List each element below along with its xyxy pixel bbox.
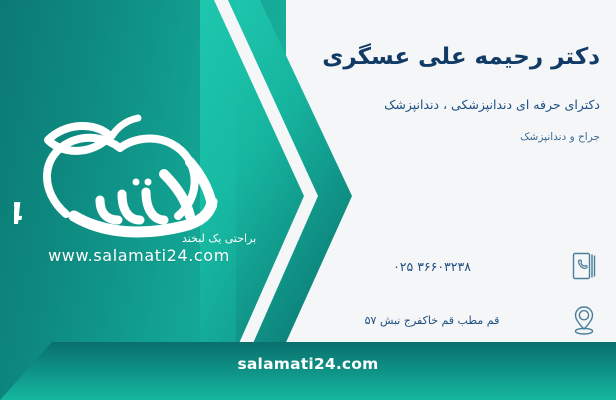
logo-website-url: www.salamati24.com bbox=[14, 246, 264, 265]
footer-website: salamati24.com bbox=[0, 355, 616, 373]
logo-number: 24 bbox=[14, 197, 25, 232]
footer-bar: salamati24.com bbox=[0, 342, 616, 400]
brand-logo: 24 براحتی یک لبخند www.salamati24.com bbox=[14, 96, 264, 282]
logo-tagline-text: براحتی یک لبخند bbox=[182, 232, 256, 245]
contact-address-text: قم مطب قم خاکفرج نبش ۵۷ bbox=[294, 314, 564, 327]
phone-book-icon bbox=[564, 246, 604, 286]
contact-row-address: قم مطب قم خاکفرج نبش ۵۷ bbox=[294, 300, 604, 340]
contact-block: ۳۶۶۰۳۲۳۸ ۰۲۵ قم مطب قم خاکفرج نبش ۵۷ bbox=[294, 246, 604, 354]
doctor-specialty: دکترای حرفه ای دندانپزشکی ، دندانپزشک bbox=[300, 96, 600, 115]
contact-phone-number: ۳۶۶۰۳۲۳۸ ۰۲۵ bbox=[294, 259, 564, 274]
doctor-subtitle: جراح و دندانپزشک bbox=[300, 130, 600, 146]
doctor-name: دکتر رحیمه علی عسگری bbox=[300, 42, 600, 73]
svg-text:24: 24 bbox=[14, 197, 25, 232]
location-pin-icon bbox=[564, 300, 604, 340]
contact-row-phone: ۳۶۶۰۳۲۳۸ ۰۲۵ bbox=[294, 246, 604, 286]
business-card: 24 براحتی یک لبخند www.salamati24.com دک… bbox=[0, 0, 616, 400]
